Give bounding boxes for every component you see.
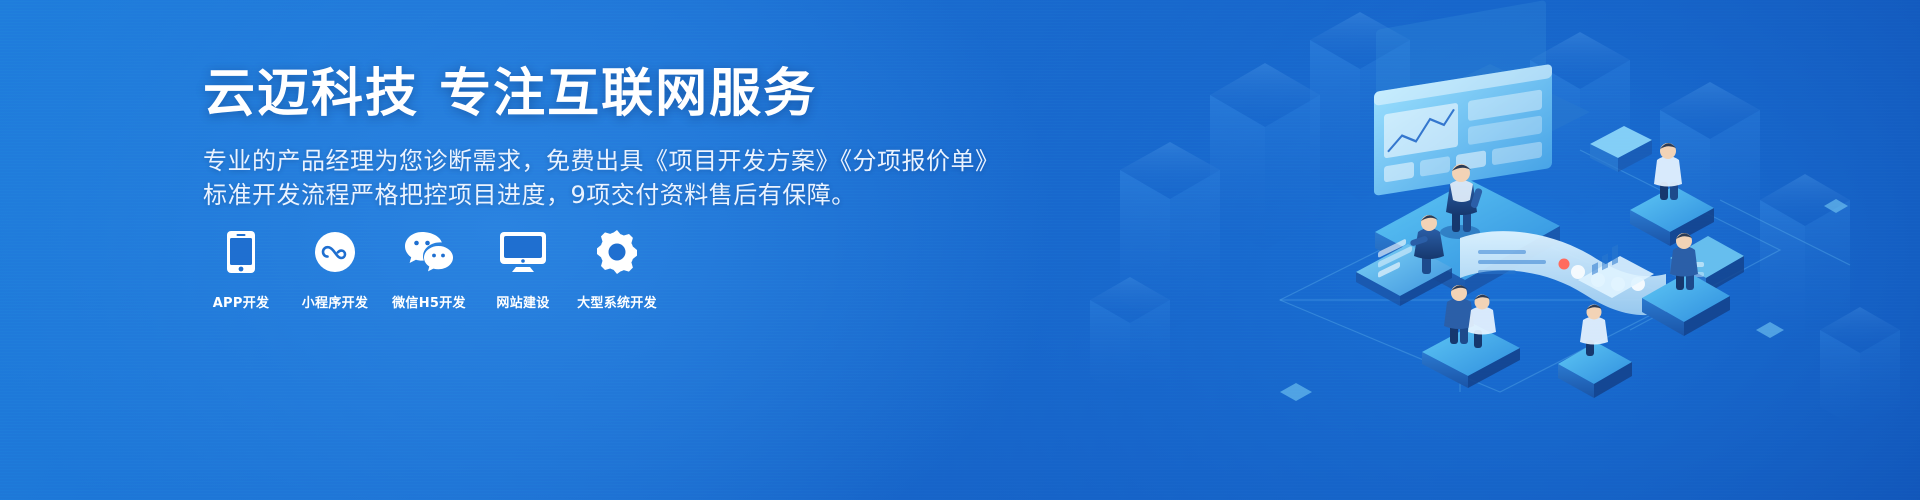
- service-item-website[interactable]: 网站建设: [487, 228, 559, 311]
- page-title: 云迈科技 专注互联网服务: [203, 66, 923, 122]
- hero-copy: 云迈科技 专注互联网服务 专业的产品经理为您诊断需求，免费出具《项目开发方案》《…: [203, 66, 923, 212]
- mini-program-icon: [299, 228, 371, 276]
- subtitle-line-2: 标准开发流程严格把控项目进度，9项交付资料售后有保障。: [203, 178, 923, 212]
- service-item-mini-program[interactable]: 小程序开发: [299, 228, 371, 311]
- wechat-icon: [393, 228, 465, 276]
- service-item-app[interactable]: APP开发: [205, 228, 277, 311]
- service-list: APP开发 小程序开发 微信: [205, 228, 653, 311]
- service-item-wechat-h5[interactable]: 微信H5开发: [393, 228, 465, 311]
- monitor-icon: [487, 228, 559, 276]
- hero-subtitle: 专业的产品经理为您诊断需求，免费出具《项目开发方案》《分项报价单》 标准开发流程…: [203, 144, 923, 212]
- hero-banner: 云迈科技 专注互联网服务 专业的产品经理为您诊断需求，免费出具《项目开发方案》《…: [0, 0, 1920, 500]
- gear-icon: [581, 228, 653, 276]
- isometric-illustration: [1160, 0, 1920, 500]
- service-label: 网站建设: [487, 292, 559, 311]
- service-label: 小程序开发: [291, 292, 379, 311]
- service-item-large-system[interactable]: 大型系统开发: [581, 228, 653, 311]
- mobile-phone-icon: [205, 228, 277, 276]
- subtitle-line-1: 专业的产品经理为您诊断需求，免费出具《项目开发方案》《分项报价单》: [203, 144, 923, 178]
- service-label: 微信H5开发: [385, 292, 473, 311]
- service-label: 大型系统开发: [567, 292, 667, 311]
- service-label: APP开发: [205, 292, 277, 311]
